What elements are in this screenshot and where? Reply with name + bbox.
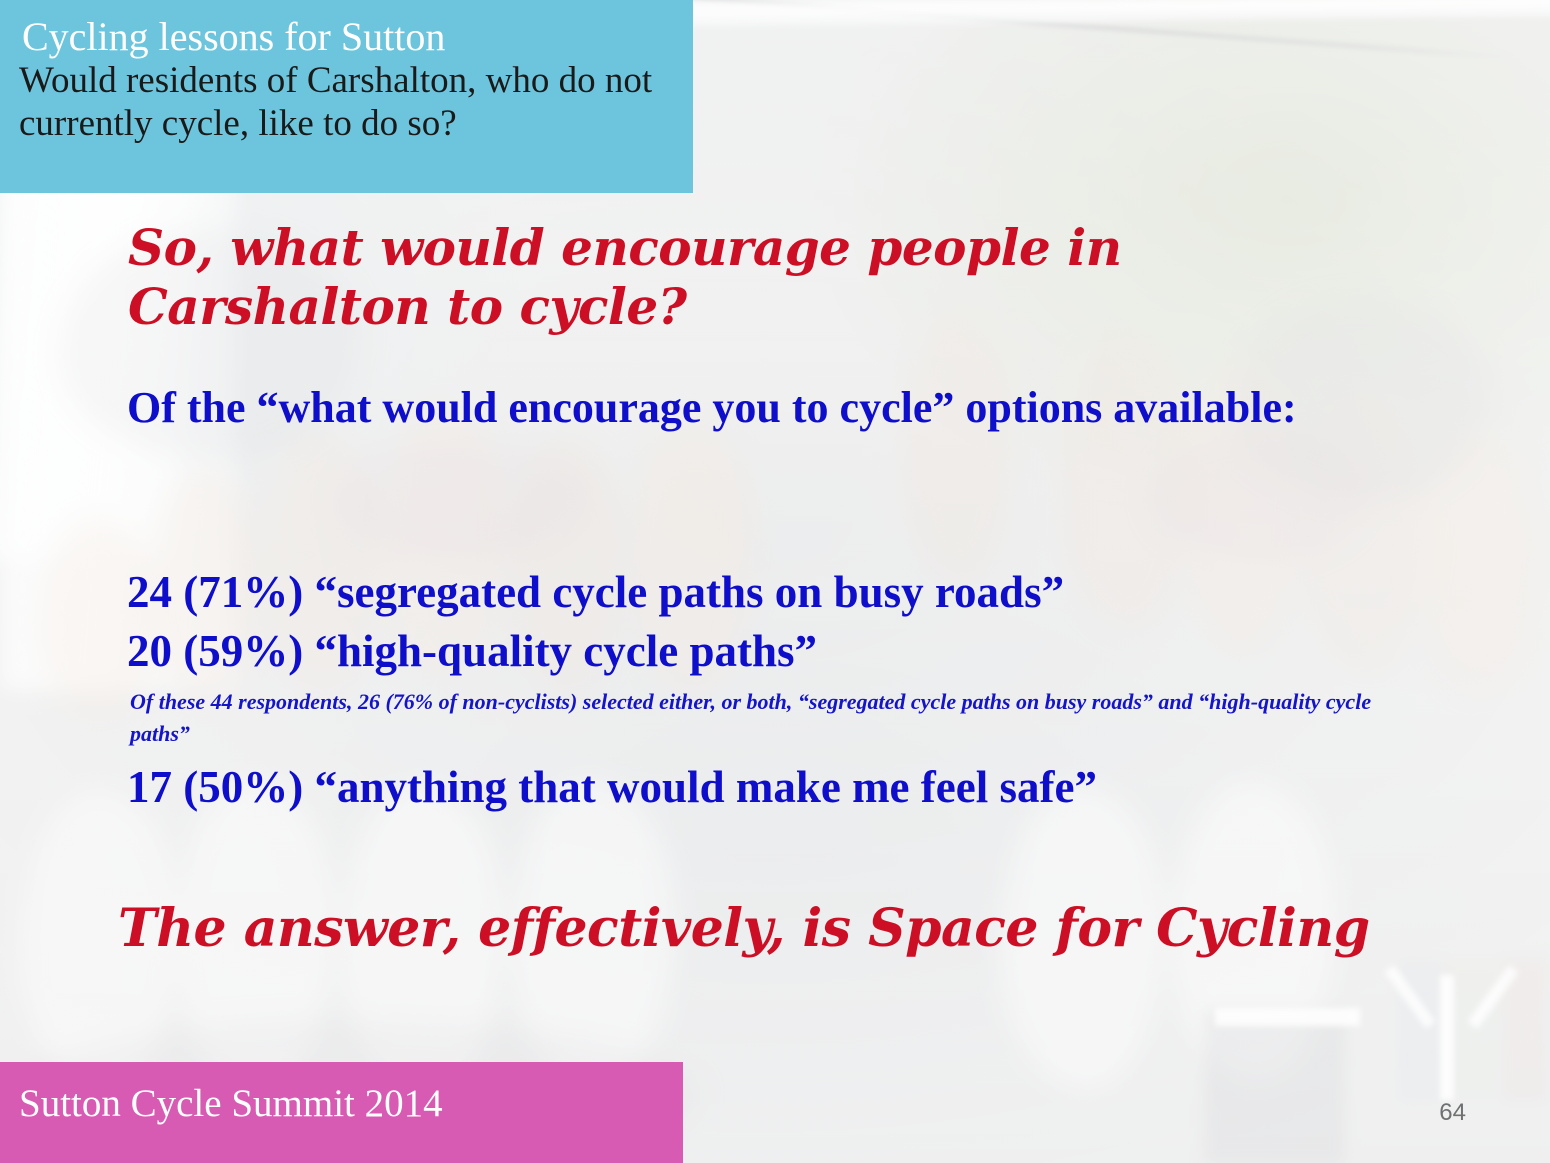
page-number: 64 — [1439, 1099, 1466, 1127]
answer-headline: The answer, effectively, is Space for Cy… — [118, 900, 1448, 957]
intro-text: Of the “what would encourage you to cycl… — [127, 378, 1397, 437]
header-box: Cycling lessons for Sutton Would residen… — [0, 0, 693, 193]
page-title: Would residents of Carshalton, who do no… — [19, 60, 679, 145]
question-headline: So, what would encourage people in Carsh… — [128, 218, 1308, 336]
deck-kicker: Cycling lessons for Sutton — [22, 17, 445, 57]
stat-line-segregated-cycle-paths: 24 (71%) “segregated cycle paths on busy… — [127, 568, 1064, 618]
presentation-slide: Cycling lessons for Sutton Would residen… — [0, 0, 1550, 1163]
footer-label: Sutton Cycle Summit 2014 — [19, 1084, 443, 1123]
footer-bar: Sutton Cycle Summit 2014 — [0, 1062, 683, 1163]
stat-line-feel-safe: 17 (50%) “anything that would make me fe… — [127, 763, 1097, 813]
footnote-text: Of these 44 respondents, 26 (76% of non-… — [130, 686, 1390, 750]
stat-line-high-quality-cycle-paths: 20 (59%) “high-quality cycle paths” — [127, 627, 817, 677]
